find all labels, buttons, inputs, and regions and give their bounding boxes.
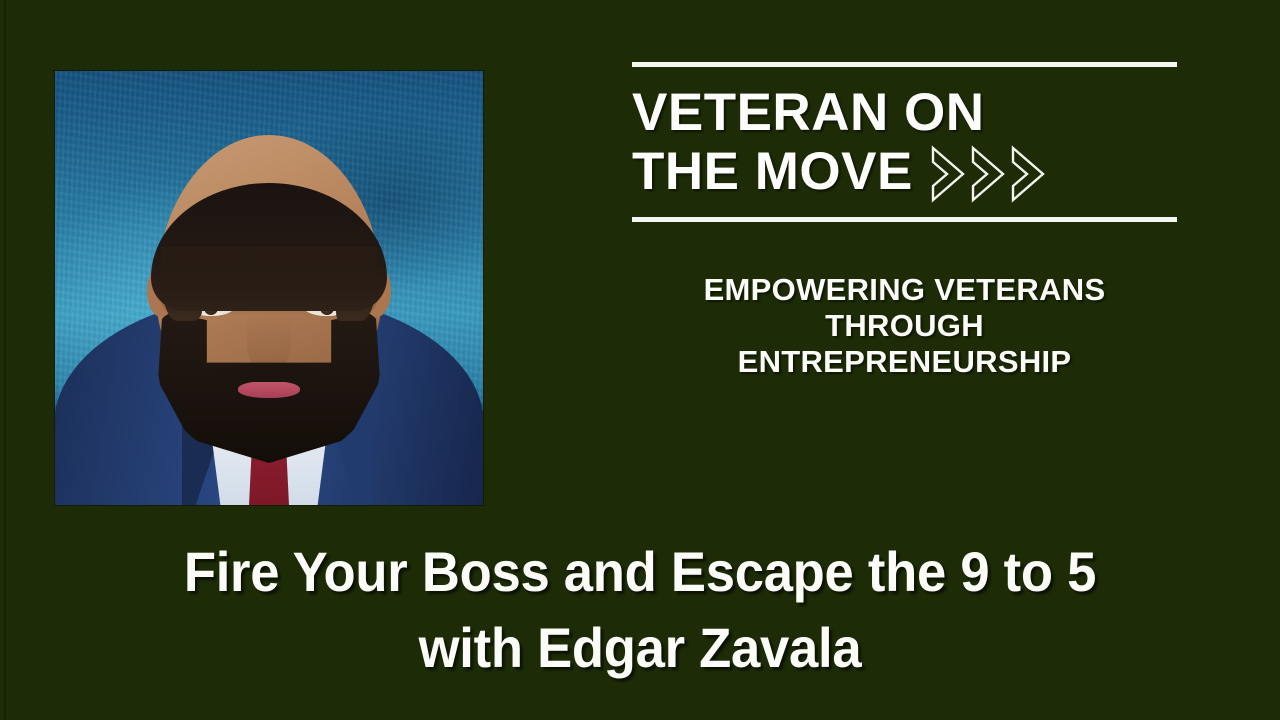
episode-title-line-1: Fire Your Boss and Escape the 9 to 5 (38, 534, 1241, 610)
tagline-line-3: ENTREPRENEURSHIP (632, 344, 1177, 380)
chevron-right-icon (929, 145, 967, 203)
chevron-right-icon (969, 145, 1007, 203)
show-title-row-2: THE MOVE (632, 141, 1177, 203)
show-tagline: EMPOWERING VETERANS THROUGH ENTREPRENEUR… (632, 272, 1177, 380)
brand-rule-bottom (632, 217, 1177, 222)
chevron-arrows-group (929, 145, 1047, 203)
chevron-right-icon (1009, 145, 1047, 203)
episode-title-line-2: with Edgar Zavala (38, 610, 1241, 686)
guest-photo (55, 71, 483, 505)
tagline-line-2: THROUGH (632, 308, 1177, 344)
show-title-line-1: VETERAN ON (632, 85, 1177, 141)
episode-title: Fire Your Boss and Escape the 9 to 5 wit… (38, 534, 1241, 686)
show-title-line-2: THE MOVE (632, 144, 913, 200)
mustache (223, 363, 315, 382)
hair (151, 183, 387, 311)
artwork-edge-seam (4, 0, 6, 720)
show-brand-block: VETERAN ON THE MOVE (632, 62, 1177, 222)
tagline-line-1: EMPOWERING VETERANS (632, 272, 1177, 308)
lips (238, 381, 300, 398)
podcast-thumbnail: VETERAN ON THE MOVE EMPOWERING VETERANS … (0, 0, 1280, 720)
brand-rule-top (632, 62, 1177, 67)
